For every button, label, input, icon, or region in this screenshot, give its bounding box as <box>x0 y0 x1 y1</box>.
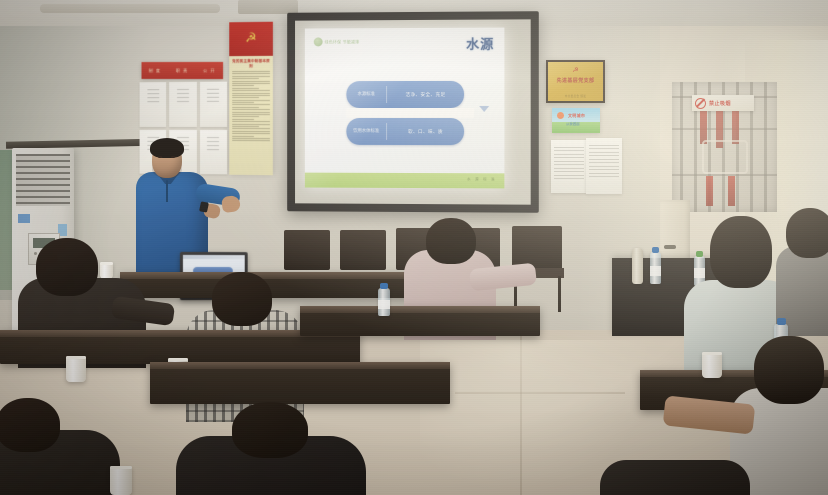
slide-footer-text: 水 源 标 准 <box>467 177 496 182</box>
hammer-sickle-icon: ☭ <box>244 31 259 46</box>
safety-poster-subline: 从我做起 <box>566 121 580 126</box>
presentation-slide: 绿色环保 节能减排 水源 水源标准 洁净、安全、充足 饮用水体标准 软、口、味、… <box>305 28 504 189</box>
paper-cup[interactable] <box>702 352 722 378</box>
presenter-hair <box>150 138 184 158</box>
attendee-head <box>426 218 476 264</box>
slide-row-2: 饮用水体标准 软、口、味、质 <box>346 118 464 145</box>
slide-row-1-label: 水源标准 <box>346 92 386 98</box>
water-bottle[interactable] <box>378 288 390 316</box>
desk-row-front-large <box>150 362 450 404</box>
red-banner: 制 度 职 责 公 开 <box>142 62 224 79</box>
party-poster-title: 党的民主集中制基本原则 <box>232 59 270 69</box>
slide-footer-bar: 水 源 标 准 <box>305 173 504 189</box>
water-bottle[interactable] <box>650 252 661 284</box>
attendee-head <box>786 208 828 258</box>
poster-text-lines <box>232 71 270 142</box>
ac-energy-label-icon <box>18 214 30 223</box>
party-poster: ☭ 党的民主集中制基本原则 <box>229 22 273 173</box>
empty-chair[interactable] <box>284 230 330 270</box>
notice-sheet-left <box>551 140 587 193</box>
slide-row-2-label: 饮用水体标准 <box>346 129 386 135</box>
award-plaque: ☭ 先进基层党支部 中共委员会 颁发 <box>546 60 605 103</box>
thermos-bottle[interactable] <box>632 248 643 284</box>
triangle-down-icon <box>479 106 489 112</box>
attendee-head <box>212 272 272 326</box>
red-banner-label: 职 责 <box>176 67 188 73</box>
safety-poster: 文明城市 从我做起 <box>552 108 600 133</box>
paper-cup[interactable] <box>66 356 86 382</box>
slide-logo-wordmark: 绿色环保 节能减排 <box>325 39 360 44</box>
presenter-eye <box>171 156 175 158</box>
no-smoking-icon <box>695 98 706 109</box>
paper-cup[interactable] <box>110 466 132 495</box>
leaf-logo-icon <box>314 37 323 46</box>
attendee-head <box>232 402 308 458</box>
attendee-head <box>754 336 824 404</box>
ceiling-pipe <box>40 4 220 13</box>
door-handle-icon[interactable] <box>664 245 676 249</box>
empty-chair[interactable] <box>340 230 386 270</box>
plaque-title: 先进基层党支部 <box>548 77 603 84</box>
safety-poster-headline: 文明城市 <box>568 113 585 119</box>
no-smoking-sign: 禁止吸烟 <box>692 95 754 111</box>
poster-red-header: ☭ <box>229 22 273 56</box>
attendee-head <box>0 398 60 452</box>
slide-title: 水源 <box>466 34 494 53</box>
screen-surface: 绿色环保 节能减排 水源 水源标准 洁净、安全、充足 饮用水体标准 软、口、味、… <box>295 19 531 204</box>
lantern-ornament-icon <box>702 140 748 174</box>
chair-leg <box>558 276 561 312</box>
projection-screen: 绿色环保 节能减排 水源 水源标准 洁净、安全、充足 饮用水体标准 软、口、味、… <box>287 11 539 213</box>
no-smoking-label: 禁止吸烟 <box>709 100 731 107</box>
slide-row-gap <box>346 108 474 118</box>
plaque-face: ☭ 先进基层党支部 中共委员会 颁发 <box>548 62 603 101</box>
poster-body: 党的民主集中制基本原则 <box>229 56 273 175</box>
laptop-screen-toolbar <box>183 255 245 259</box>
presenter-shirt-placket <box>166 180 168 202</box>
plaque-subtitle: 中共委员会 颁发 <box>548 94 603 98</box>
presenter-eye <box>158 156 162 158</box>
ac-vent-grille <box>16 154 70 206</box>
red-banner-label: 公 开 <box>203 67 215 73</box>
wall-sheet <box>200 130 227 175</box>
attendee-head <box>710 216 772 288</box>
wall-sheet <box>140 82 167 126</box>
red-banner-label: 制 度 <box>149 68 161 74</box>
attendee-head <box>36 238 98 296</box>
conference-room-photo: ☭ 党的民主集中制基本原则 制 度 职 责 公 开 绿色环保 <box>0 0 828 495</box>
slide-row-1-value: 洁净、安全、充足 <box>387 91 464 97</box>
sun-icon <box>557 112 564 119</box>
notice-sheet-right <box>586 138 622 194</box>
attendee-torso <box>600 460 750 495</box>
presenter-face-shadow <box>152 158 182 178</box>
wall-sheet <box>169 82 196 127</box>
party-emblem-icon: ☭ <box>572 67 578 74</box>
paper-cup[interactable] <box>100 262 113 279</box>
wall-sheet <box>200 82 227 127</box>
slide-row-2-value: 软、口、味、质 <box>387 128 464 134</box>
slide-row-1: 水源标准 洁净、安全、充足 <box>346 81 464 108</box>
desk-row-mid <box>300 306 540 336</box>
slide-logo: 绿色环保 节能减排 <box>314 37 360 46</box>
